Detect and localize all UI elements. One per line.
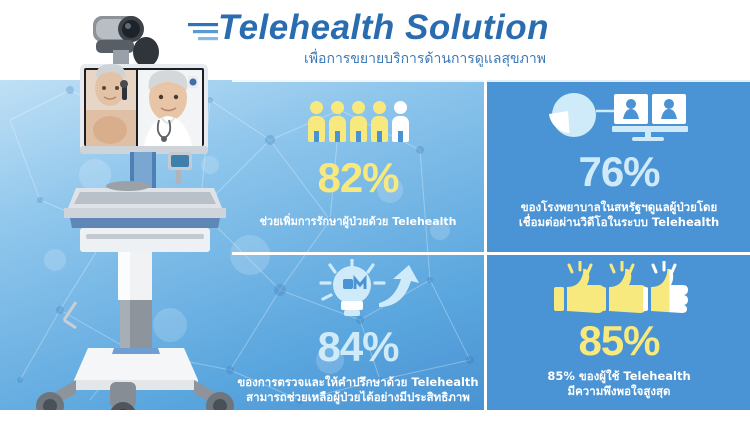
stat-card-satisfaction: 85% 85% ของผู้ใช้ Telehealth มีความพึงพอ… bbox=[488, 255, 750, 410]
stat-caption-line: ของการตรวจและให้คำปรึกษาด้วย Telehealth bbox=[232, 375, 484, 390]
stat-caption-line: ช่วยเพิ่มการรักษาผู้ป่วยด้วย Telehealth bbox=[232, 214, 484, 229]
thumbs-up-icon bbox=[549, 261, 689, 315]
page-subtitle: เพื่อการขยายบริการด้านการดูแลสุขภาพ bbox=[215, 48, 635, 70]
page-title: Telehealth Solution bbox=[218, 8, 549, 48]
people-group-icon bbox=[308, 101, 409, 142]
stat-value: 85% bbox=[488, 319, 750, 363]
stat-caption-line: 85% ของผู้ใช้ Telehealth bbox=[488, 369, 750, 384]
control-tablet-icon bbox=[168, 152, 192, 184]
stat-caption-line: ของโรงพยาบาลในสหรัฐฯดูแลผู้ป่วยโดย bbox=[488, 200, 750, 215]
divider-vertical bbox=[484, 80, 487, 410]
stat-card-hospitals: 76% ของโรงพยาบาลในสหรัฐฯดูแลผู้ป่วยโดย เ… bbox=[488, 82, 750, 252]
stat-caption-line: สามารถช่วยเหลือผู้ป่วยได้อย่างมีประสิทธิ… bbox=[232, 390, 484, 405]
stat-caption-line: มีความพึงพอใจสูงสุด bbox=[488, 384, 750, 399]
pie-chart-monitor-icon bbox=[544, 90, 694, 146]
header: Telehealth Solution เพื่อการขยายบริการด้… bbox=[0, 0, 750, 80]
bottom-white-strip bbox=[0, 410, 750, 434]
stat-value: 84% bbox=[232, 325, 484, 369]
speed-lines-icon bbox=[188, 20, 222, 44]
doctor-video-tile bbox=[138, 70, 202, 146]
stat-card-consultation: 84% ของการตรวจและให้คำปรึกษาด้วย Telehea… bbox=[232, 255, 484, 410]
lightbulb-arrow-icon bbox=[283, 259, 433, 321]
stat-caption-line: เชื่อมต่อผ่านวิดีโอในระบบ Telehealth bbox=[488, 215, 750, 230]
stat-value: 76% bbox=[488, 150, 750, 194]
infographic-poster: Telehealth Solution เพื่อการขยายบริการด้… bbox=[0, 0, 750, 434]
stat-value: 82% bbox=[232, 156, 484, 200]
stat-card-patients: 82% ช่วยเพิ่มการรักษาผู้ป่วยด้วย Telehea… bbox=[232, 82, 484, 252]
